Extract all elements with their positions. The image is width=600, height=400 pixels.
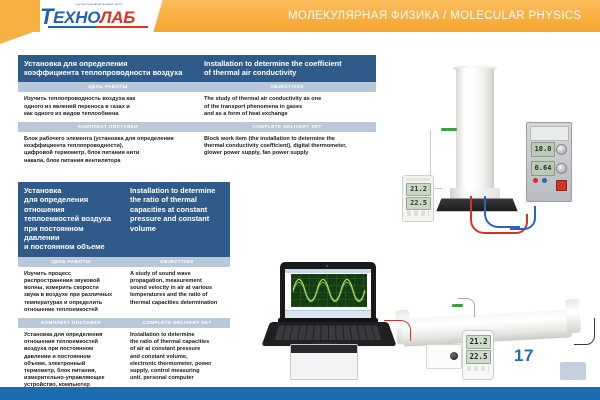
orange-corner xyxy=(0,0,40,32)
delivery-text-en: Installation to determinethe ratio of th… xyxy=(124,328,230,394)
block-title-ru: Установкадля определенияотношениятеплоем… xyxy=(18,182,124,257)
delivery-label-row: КОМПЛЕКТ ПОСТАВКИ COMPLETE DELIVERY SET xyxy=(18,122,376,132)
software-status-bar xyxy=(285,310,371,318)
psu-lcd-current: 0.64 xyxy=(531,161,555,176)
objectives-text-en: A study of sound wavepropagation, measur… xyxy=(124,267,230,318)
delivery-label-ru: КОМПЛЕКТ ПОСТАВКИ xyxy=(18,122,198,132)
page-number: 17 xyxy=(514,346,534,366)
block-title-en: Installation to determinethe ratio of th… xyxy=(124,182,230,257)
cable-blue-right xyxy=(510,206,536,230)
delivery-text-en: Block work item (the installation to det… xyxy=(198,132,376,169)
psu-power-switch xyxy=(556,180,567,191)
objectives-text-ru: Изучить теплопроводность воздуха какодно… xyxy=(18,92,198,122)
psu-lcd-voltage: 10.0 xyxy=(531,142,555,157)
laptop-screen xyxy=(285,269,371,318)
speaker-module xyxy=(426,344,462,369)
white-cylinder xyxy=(456,68,494,196)
webcam-icon xyxy=(326,265,328,267)
objectives-label-ru: ЦЕЛЬ РАБОТЫ xyxy=(18,257,124,267)
speaker-dial xyxy=(450,352,458,360)
block-title-en: Installation to determine the coefficien… xyxy=(198,55,376,82)
waveform-plot xyxy=(291,274,367,307)
page-title: МОЛЕКУЛЯРНАЯ ФИЗИКА / MOLECULAR PHYSICS xyxy=(288,0,581,32)
thermometer-lcd-top: 21.2 xyxy=(406,183,431,196)
page-header: научно-производственный центр ТЕХНОЛАБ М… xyxy=(0,0,600,32)
psu-terminal-red xyxy=(533,178,538,183)
blue-label-tag xyxy=(560,362,586,380)
delivery-label-ru: КОМПЛЕКТ ПОСТАВКИ xyxy=(18,318,124,328)
block-title-row: Установка для определениякоэффициента те… xyxy=(18,55,376,82)
page-footer xyxy=(0,387,600,400)
meter-lcd-bottom: 22.5 xyxy=(466,350,491,364)
delivery-body-row: Установка для определенияотношения тепло… xyxy=(18,328,230,394)
objectives-text-en: The study of thermal air conductivity as… xyxy=(198,92,376,122)
catalog-page: научно-производственный центр ТЕХНОЛАБ М… xyxy=(0,0,600,400)
laptop-base xyxy=(261,322,396,346)
laptop-lid xyxy=(280,262,376,324)
unit-top-panel xyxy=(291,345,357,353)
objectives-label-en: OBJECTIVES xyxy=(198,82,376,92)
objectives-label-row: ЦЕЛЬ РАБОТЫ OBJECTIVES xyxy=(18,257,230,267)
sine-wave-trace xyxy=(291,274,367,307)
power-supply-unit: 10.0 0.64 xyxy=(526,122,572,202)
delivery-label-en: COMPLETE DELIVERY SET xyxy=(124,318,230,328)
objectives-text-ru: Изучить процессраспространения звуковойв… xyxy=(18,267,124,318)
delivery-text-ru: Блок рабочего элемента (установка для оп… xyxy=(18,132,198,169)
block-title-ru: Установка для определениякоэффициента те… xyxy=(18,55,198,82)
psu-terminal-blue xyxy=(542,178,547,183)
delivery-label-row: КОМПЛЕКТ ПОСТАВКИ COMPLETE DELIVERY SET xyxy=(18,318,230,328)
thermometer-top-strip xyxy=(406,178,430,181)
delivery-text-ru: Установка для определенияотношения тепло… xyxy=(18,328,124,394)
objectives-body-row: Изучить процессраспространения звуковойв… xyxy=(18,267,230,318)
laptop-keyboard xyxy=(275,325,381,340)
photo-sound-wave-tube-apparatus: 21.2 22.5 xyxy=(396,300,600,395)
logo-wordmark: ТЕХНОЛАБ xyxy=(40,6,152,28)
delivery-body-row: Блок рабочего элемента (установка для оп… xyxy=(18,132,376,169)
objectives-label-en: OBJECTIVES xyxy=(124,257,230,267)
orange-corner-taper xyxy=(0,32,33,44)
psu-voltage-knob xyxy=(556,144,567,155)
cable-black xyxy=(574,318,595,345)
sensor-wire xyxy=(458,298,475,317)
thermometer-buttons xyxy=(407,211,429,216)
control-measuring-unit xyxy=(290,344,358,380)
logo-underline xyxy=(48,26,148,28)
meter-buttons xyxy=(467,366,489,371)
cable-red xyxy=(384,320,411,341)
digital-thermometer: 21.2 22.5 xyxy=(402,175,434,222)
psu-current-knob xyxy=(556,163,567,174)
block-title-row: Установкадля определенияотношениятеплоем… xyxy=(18,182,230,257)
meter-lcd-top: 21.2 xyxy=(466,335,491,349)
spec-block-heat-capacity-ratio: Установкадля определенияотношениятеплоем… xyxy=(18,182,230,394)
thermometer-lcd-bottom: 22.5 xyxy=(406,197,431,210)
psu-vent-panel xyxy=(530,126,569,141)
company-logo: научно-производственный центр ТЕХНОЛАБ xyxy=(40,2,152,30)
delivery-label-en: COMPLETE DELIVERY SET xyxy=(198,122,376,132)
objectives-label-row: ЦЕЛЬ РАБОТЫ OBJECTIVES xyxy=(18,82,376,92)
objectives-body-row: Изучить теплопроводность воздуха какодно… xyxy=(18,92,376,122)
logo-text-blue: ЕХНО xyxy=(53,8,100,27)
spec-block-thermal-conductivity: Установка для определениякоэффициента те… xyxy=(18,55,376,169)
logo-text-red: ЛАБ xyxy=(100,8,135,27)
electronic-thermometer: 21.2 22.5 xyxy=(462,330,494,380)
software-title-bar xyxy=(285,269,371,273)
objectives-label-ru: ЦЕЛЬ РАБОТЫ xyxy=(18,82,198,92)
green-clip xyxy=(441,128,457,131)
